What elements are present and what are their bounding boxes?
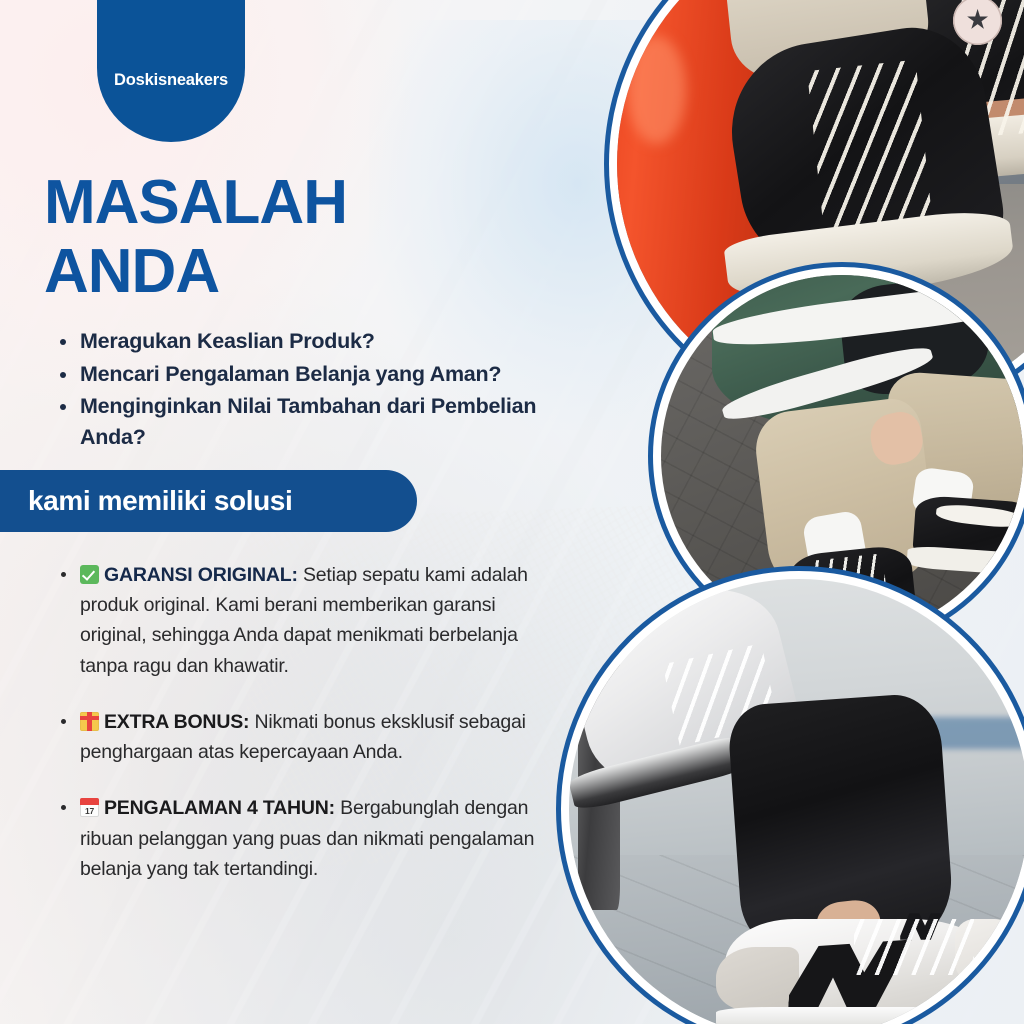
- solution-item-bonus: EXTRA BONUS: Nikmati bonus eksklusif seb…: [50, 707, 550, 767]
- photo-circle-new-balance-image: [569, 579, 1024, 1024]
- newbalance-327-sole: [716, 1007, 992, 1024]
- problem-item-1: Meragukan Keaslian Produk?: [50, 326, 595, 357]
- problem-item-2: Mencari Pengalaman Belanja yang Aman?: [50, 359, 595, 390]
- solution-list: GARANSI ORIGINAL: Setiap sepatu kami ada…: [50, 560, 550, 910]
- solution-item-pengalaman-lead: PENGALAMAN 4 TAHUN:: [104, 797, 335, 819]
- page-title-line2: ANDA: [44, 237, 564, 306]
- calendar-icon-day: 17: [80, 805, 99, 817]
- brand-name: Doskisneakers: [114, 71, 228, 90]
- newbalance-327-toe: [716, 947, 799, 1011]
- solution-item-bonus-lead: EXTRA BONUS:: [104, 711, 249, 733]
- solution-item-garansi: GARANSI ORIGINAL: Setiap sepatu kami ada…: [50, 560, 550, 681]
- solution-item-garansi-lead: GARANSI ORIGINAL:: [104, 564, 298, 586]
- promo-poster: Doskisneakers MASALAH ANDA Meragukan Kea…: [0, 0, 1024, 1024]
- converse-shoe-left-laces: [807, 60, 932, 229]
- gift-icon: [80, 712, 99, 731]
- brand-badge: Doskisneakers: [97, 0, 245, 142]
- page-title-line1: MASALAH: [44, 168, 347, 237]
- problem-list: Meragukan Keaslian Produk? Mencari Penga…: [50, 326, 595, 454]
- page-title: MASALAH ANDA: [44, 168, 564, 307]
- solution-banner-label: kami memiliki solusi: [28, 485, 292, 517]
- calendar-icon: 17: [80, 798, 99, 817]
- white-check-mark-icon: [80, 565, 99, 584]
- photo-circle-new-balance: [556, 566, 1024, 1024]
- solution-banner: kami memiliki solusi: [0, 470, 417, 532]
- solution-item-pengalaman: 17PENGALAMAN 4 TAHUN: Bergabunglah denga…: [50, 793, 550, 884]
- newbalance-327-laces: [854, 919, 974, 974]
- red-hydrant-highlight: [627, 36, 686, 145]
- problem-item-3: Menginginkan Nilai Tambahan dari Pembeli…: [50, 391, 595, 452]
